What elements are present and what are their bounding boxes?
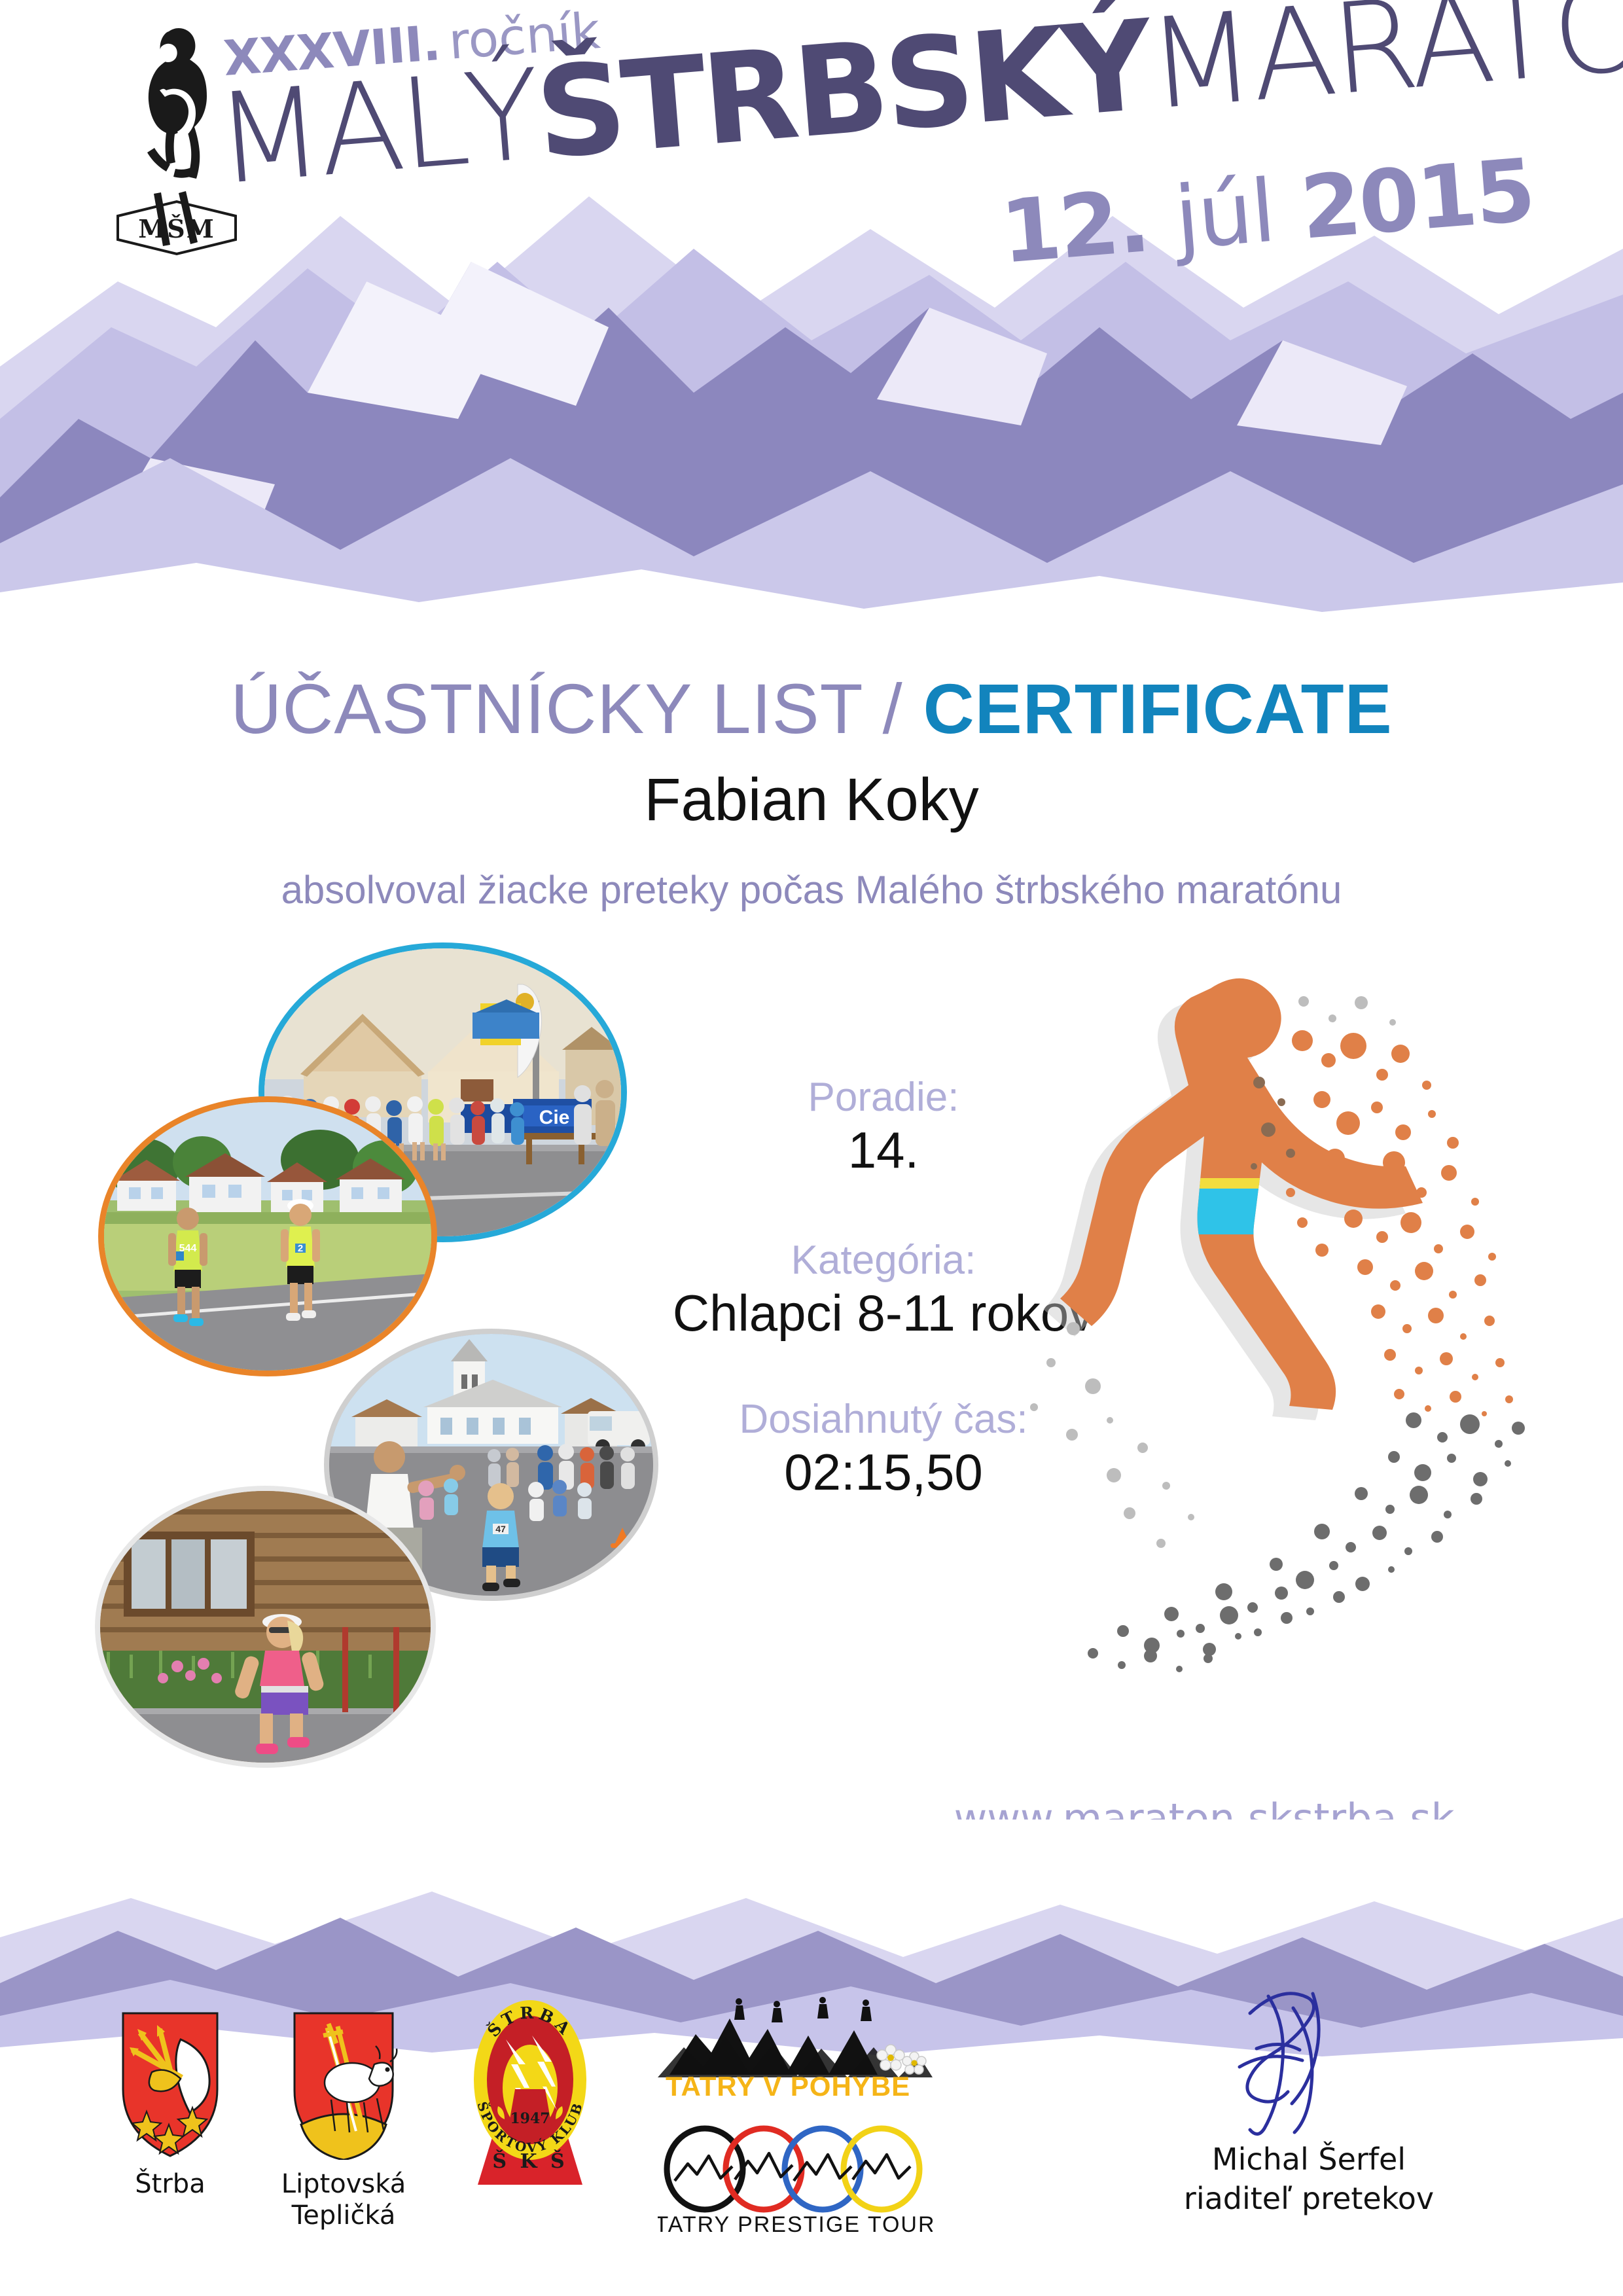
liptovska-teplicka-coat-of-arms-icon xyxy=(288,2009,399,2160)
tatry-v-pohybe-wordmark: TATRY V POHYBE xyxy=(666,2071,910,2102)
title-part-maly: MALÝ xyxy=(210,43,543,213)
sponsor-caption-liptovska: Liptovská xyxy=(262,2168,425,2200)
svg-text:MŠM: MŠM xyxy=(138,214,215,243)
certificate-page: MŠM XXXVIII.ročník MALÝŠTRBSKÝMARATÓN 12… xyxy=(0,0,1623,2296)
photo-woman-runner-image xyxy=(100,1491,431,1763)
svg-text:47: 47 xyxy=(495,1524,506,1534)
signature-block: Michal Šerfel riaditeľ pretekov xyxy=(1099,1990,1518,2219)
certificate-subtitle: absolvoval žiacke preteky počas Malého š… xyxy=(0,867,1623,912)
event-date-year: 2015 xyxy=(1297,140,1537,259)
sponsor-logos: Štrba xyxy=(79,1990,962,2265)
strba-coat-of-arms-icon xyxy=(118,2009,223,2160)
certificate-title-separator: / xyxy=(883,669,903,748)
tatry-prestige-tour-icon: TATRY PRESTIGE TOUR xyxy=(658,2123,933,2241)
svg-text:Cie: Cie xyxy=(539,1107,570,1128)
photo-collage: Cie xyxy=(92,936,635,1826)
sportovy-klub-strba-emblem-icon: 1947 ŠTRBA ŠPORTOVÝ KLUB Š K Š xyxy=(461,1996,599,2186)
sponsor-caption-teplicka: Tepličká xyxy=(262,2200,425,2231)
event-date-day: 12. xyxy=(997,171,1152,283)
participant-name: Fabian Koky xyxy=(0,766,1623,834)
sponsor-caption-strba: Štrba xyxy=(92,2168,249,2200)
sponsor-logo-liptovska-teplicka: Liptovská Tepličká xyxy=(262,2009,425,2231)
sponsor-logo-sks-strba: 1947 ŠTRBA ŠPORTOVÝ KLUB Š K Š xyxy=(445,1996,615,2189)
sks-year: 1947 xyxy=(510,2110,550,2127)
svg-text:2: 2 xyxy=(298,1243,303,1254)
sponsor-logo-tatry-group: TATRY V POHYBE TATRY PRESTIGE TOUR xyxy=(641,1996,949,2244)
signature-role: riaditeľ pretekov xyxy=(1099,2179,1518,2219)
runner-dot-art-icon xyxy=(995,962,1538,1702)
tatry-prestige-tour-wordmark: TATRY PRESTIGE TOUR xyxy=(658,2212,933,2237)
sks-crest-bottom: Š K Š xyxy=(492,2149,567,2173)
certificate-title-sk: ÚČASTNÍCKY LIST xyxy=(230,669,862,748)
handwritten-signature-icon xyxy=(1158,1990,1459,2140)
photo-two-runners-image: 544 2 xyxy=(104,1102,431,1371)
svg-text:544: 544 xyxy=(179,1243,197,1254)
tatry-v-pohybe-icon: TATRY V POHYBE xyxy=(658,1996,933,2111)
certificate-title: ÚČASTNÍCKY LIST / CERTIFICATE xyxy=(0,668,1623,749)
certificate-title-en: CERTIFICATE xyxy=(923,669,1393,748)
signature-name: Michal Šerfel xyxy=(1099,2140,1518,2179)
event-date-month: júl xyxy=(1171,161,1278,270)
sponsor-logo-strba: Štrba xyxy=(92,2009,249,2200)
photo-woman-runner-wooden-house xyxy=(95,1486,436,1768)
header-mountain-banner: MŠM XXXVIII.ročník MALÝŠTRBSKÝMARATÓN 12… xyxy=(0,0,1623,655)
